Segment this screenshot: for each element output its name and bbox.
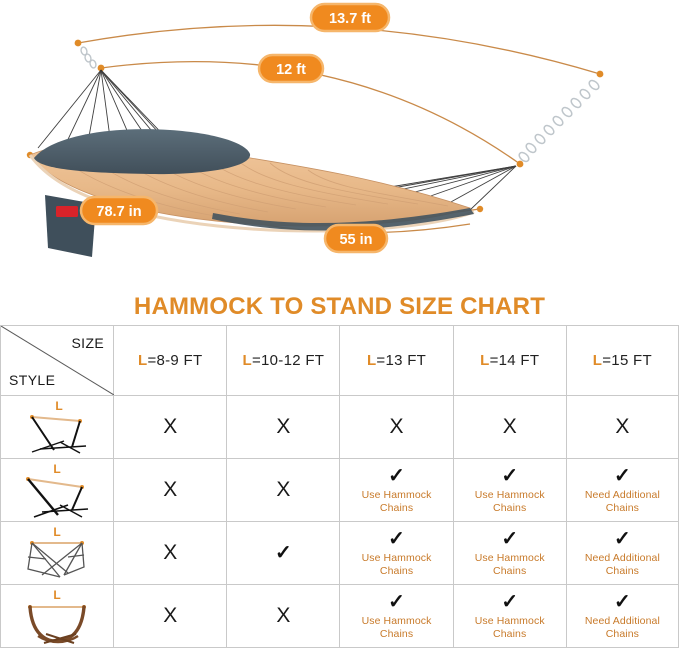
mark: ✓ [458, 529, 562, 549]
mark: ✓ [344, 592, 448, 612]
cell-note: Use Hammock Chains [458, 615, 562, 639]
badge-hammock-length-label: 12 ft [276, 62, 306, 78]
mark: X [163, 478, 177, 501]
hammock-to-stand-size-table: SIZE STYLE L=8-9 FT L=10-12 FT L=13 FT [0, 325, 679, 648]
cell-1-4: X [453, 396, 566, 459]
corner-style-label: STYLE [9, 372, 55, 388]
cell-note: Use Hammock Chains [344, 552, 448, 576]
cell-note: Use Hammock Chains [458, 552, 562, 576]
table-row: L X X ✓ Use Hammock Chains ✓ Use Hammock… [1, 459, 679, 522]
mark: ✓ [458, 592, 562, 612]
cell-note: Need Additional Chains [571, 552, 674, 576]
mark: ✓ [458, 466, 562, 486]
hammock-illustration: 13.7 ft 12 ft 78.7 in 55 in [0, 0, 679, 290]
badge-bed-width: 55 in [325, 225, 387, 252]
cell-2-5: ✓ Need Additional Chains [566, 459, 678, 522]
mark: X [163, 415, 177, 438]
table-row: L X X ✓ Use Hammock Chains ✓ Use Hammock… [1, 585, 679, 648]
column-header-14-rest: =14 FT [490, 352, 540, 369]
column-header-13-rest: =13 FT [376, 352, 426, 369]
style-L-label-4: L [53, 588, 60, 602]
mark: ✓ [231, 543, 335, 563]
style-L-label-1: L [55, 399, 62, 413]
cell-2-1: X [114, 459, 227, 522]
cell-note: Need Additional Chains [571, 615, 674, 639]
mark: X [390, 415, 404, 438]
cell-note: Need Additional Chains [571, 489, 674, 513]
badge-hammock-length: 12 ft [259, 55, 323, 82]
badge-stand-length-label: 13.7 ft [329, 11, 371, 27]
mark: ✓ [344, 466, 448, 486]
cell-4-2: X [227, 585, 340, 648]
cell-3-1: X [114, 522, 227, 585]
cell-1-1: X [114, 396, 227, 459]
mark: ✓ [571, 592, 674, 612]
column-header-14: L=14 FT [453, 326, 566, 396]
column-header-15-prefix: L [593, 352, 602, 369]
column-header-15-rest: =15 FT [602, 352, 652, 369]
table-header-row: SIZE STYLE L=8-9 FT L=10-12 FT L=13 FT [1, 326, 679, 396]
page-title: HAMMOCK TO STAND SIZE CHART [0, 293, 679, 321]
column-header-13: L=13 FT [340, 326, 453, 396]
chain-icon [518, 79, 601, 163]
cell-note: Use Hammock Chains [344, 615, 448, 639]
cell-2-4: ✓ Use Hammock Chains [453, 459, 566, 522]
cell-3-4: ✓ Use Hammock Chains [453, 522, 566, 585]
style-L-label-2: L [53, 462, 60, 476]
column-header-10-12-rest: =10-12 FT [252, 352, 324, 369]
mark: X [615, 415, 629, 438]
mark: ✓ [571, 466, 674, 486]
cell-2-3: ✓ Use Hammock Chains [340, 459, 453, 522]
mark: ✓ [571, 529, 674, 549]
cell-1-5: X [566, 396, 678, 459]
mark: X [276, 415, 290, 438]
cell-4-4: ✓ Use Hammock Chains [453, 585, 566, 648]
cell-1-3: X [340, 396, 453, 459]
column-header-10-12-prefix: L [242, 352, 251, 369]
mark: X [503, 415, 517, 438]
mark: X [276, 478, 290, 501]
cell-2-2: X [227, 459, 340, 522]
stand-style-steel-v-frame-icon: L [1, 522, 114, 585]
mark: X [163, 541, 177, 564]
mark: ✓ [344, 529, 448, 549]
column-header-15: L=15 FT [566, 326, 678, 396]
hook-icon [80, 46, 97, 68]
cell-3-5: ✓ Need Additional Chains [566, 522, 678, 585]
cell-4-5: ✓ Need Additional Chains [566, 585, 678, 648]
cell-1-2: X [227, 396, 340, 459]
cell-note: Use Hammock Chains [344, 489, 448, 513]
corner-header-cell: SIZE STYLE [1, 326, 114, 396]
column-header-13-prefix: L [367, 352, 376, 369]
brand-tag [56, 206, 78, 217]
column-header-14-prefix: L [480, 352, 489, 369]
cell-4-3: ✓ Use Hammock Chains [340, 585, 453, 648]
table-row: L X ✓ [1, 522, 679, 585]
table-row: L X X X X X [1, 396, 679, 459]
cell-note: Use Hammock Chains [458, 489, 562, 513]
mark: X [163, 604, 177, 627]
column-header-8-9-rest: =8-9 FT [147, 352, 202, 369]
badge-stand-length: 13.7 ft [311, 4, 389, 31]
corner-size-label: SIZE [71, 335, 104, 351]
badge-bed-width-label: 55 in [339, 232, 372, 248]
badge-bed-length: 78.7 in [81, 197, 157, 224]
cell-3-3: ✓ Use Hammock Chains [340, 522, 453, 585]
stand-style-steel-slanted-icon: L [1, 459, 114, 522]
hammock-pillow [34, 129, 250, 174]
cell-3-2: ✓ [227, 522, 340, 585]
badge-bed-length-label: 78.7 in [96, 204, 141, 220]
column-header-8-9: L=8-9 FT [114, 326, 227, 396]
stand-style-steel-a-frame-icon: L [1, 396, 114, 459]
style-L-label-3: L [53, 525, 60, 539]
column-header-10-12: L=10-12 FT [227, 326, 340, 396]
mark: X [276, 604, 290, 627]
stand-style-wooden-arc-icon: L [1, 585, 114, 648]
cell-4-1: X [114, 585, 227, 648]
